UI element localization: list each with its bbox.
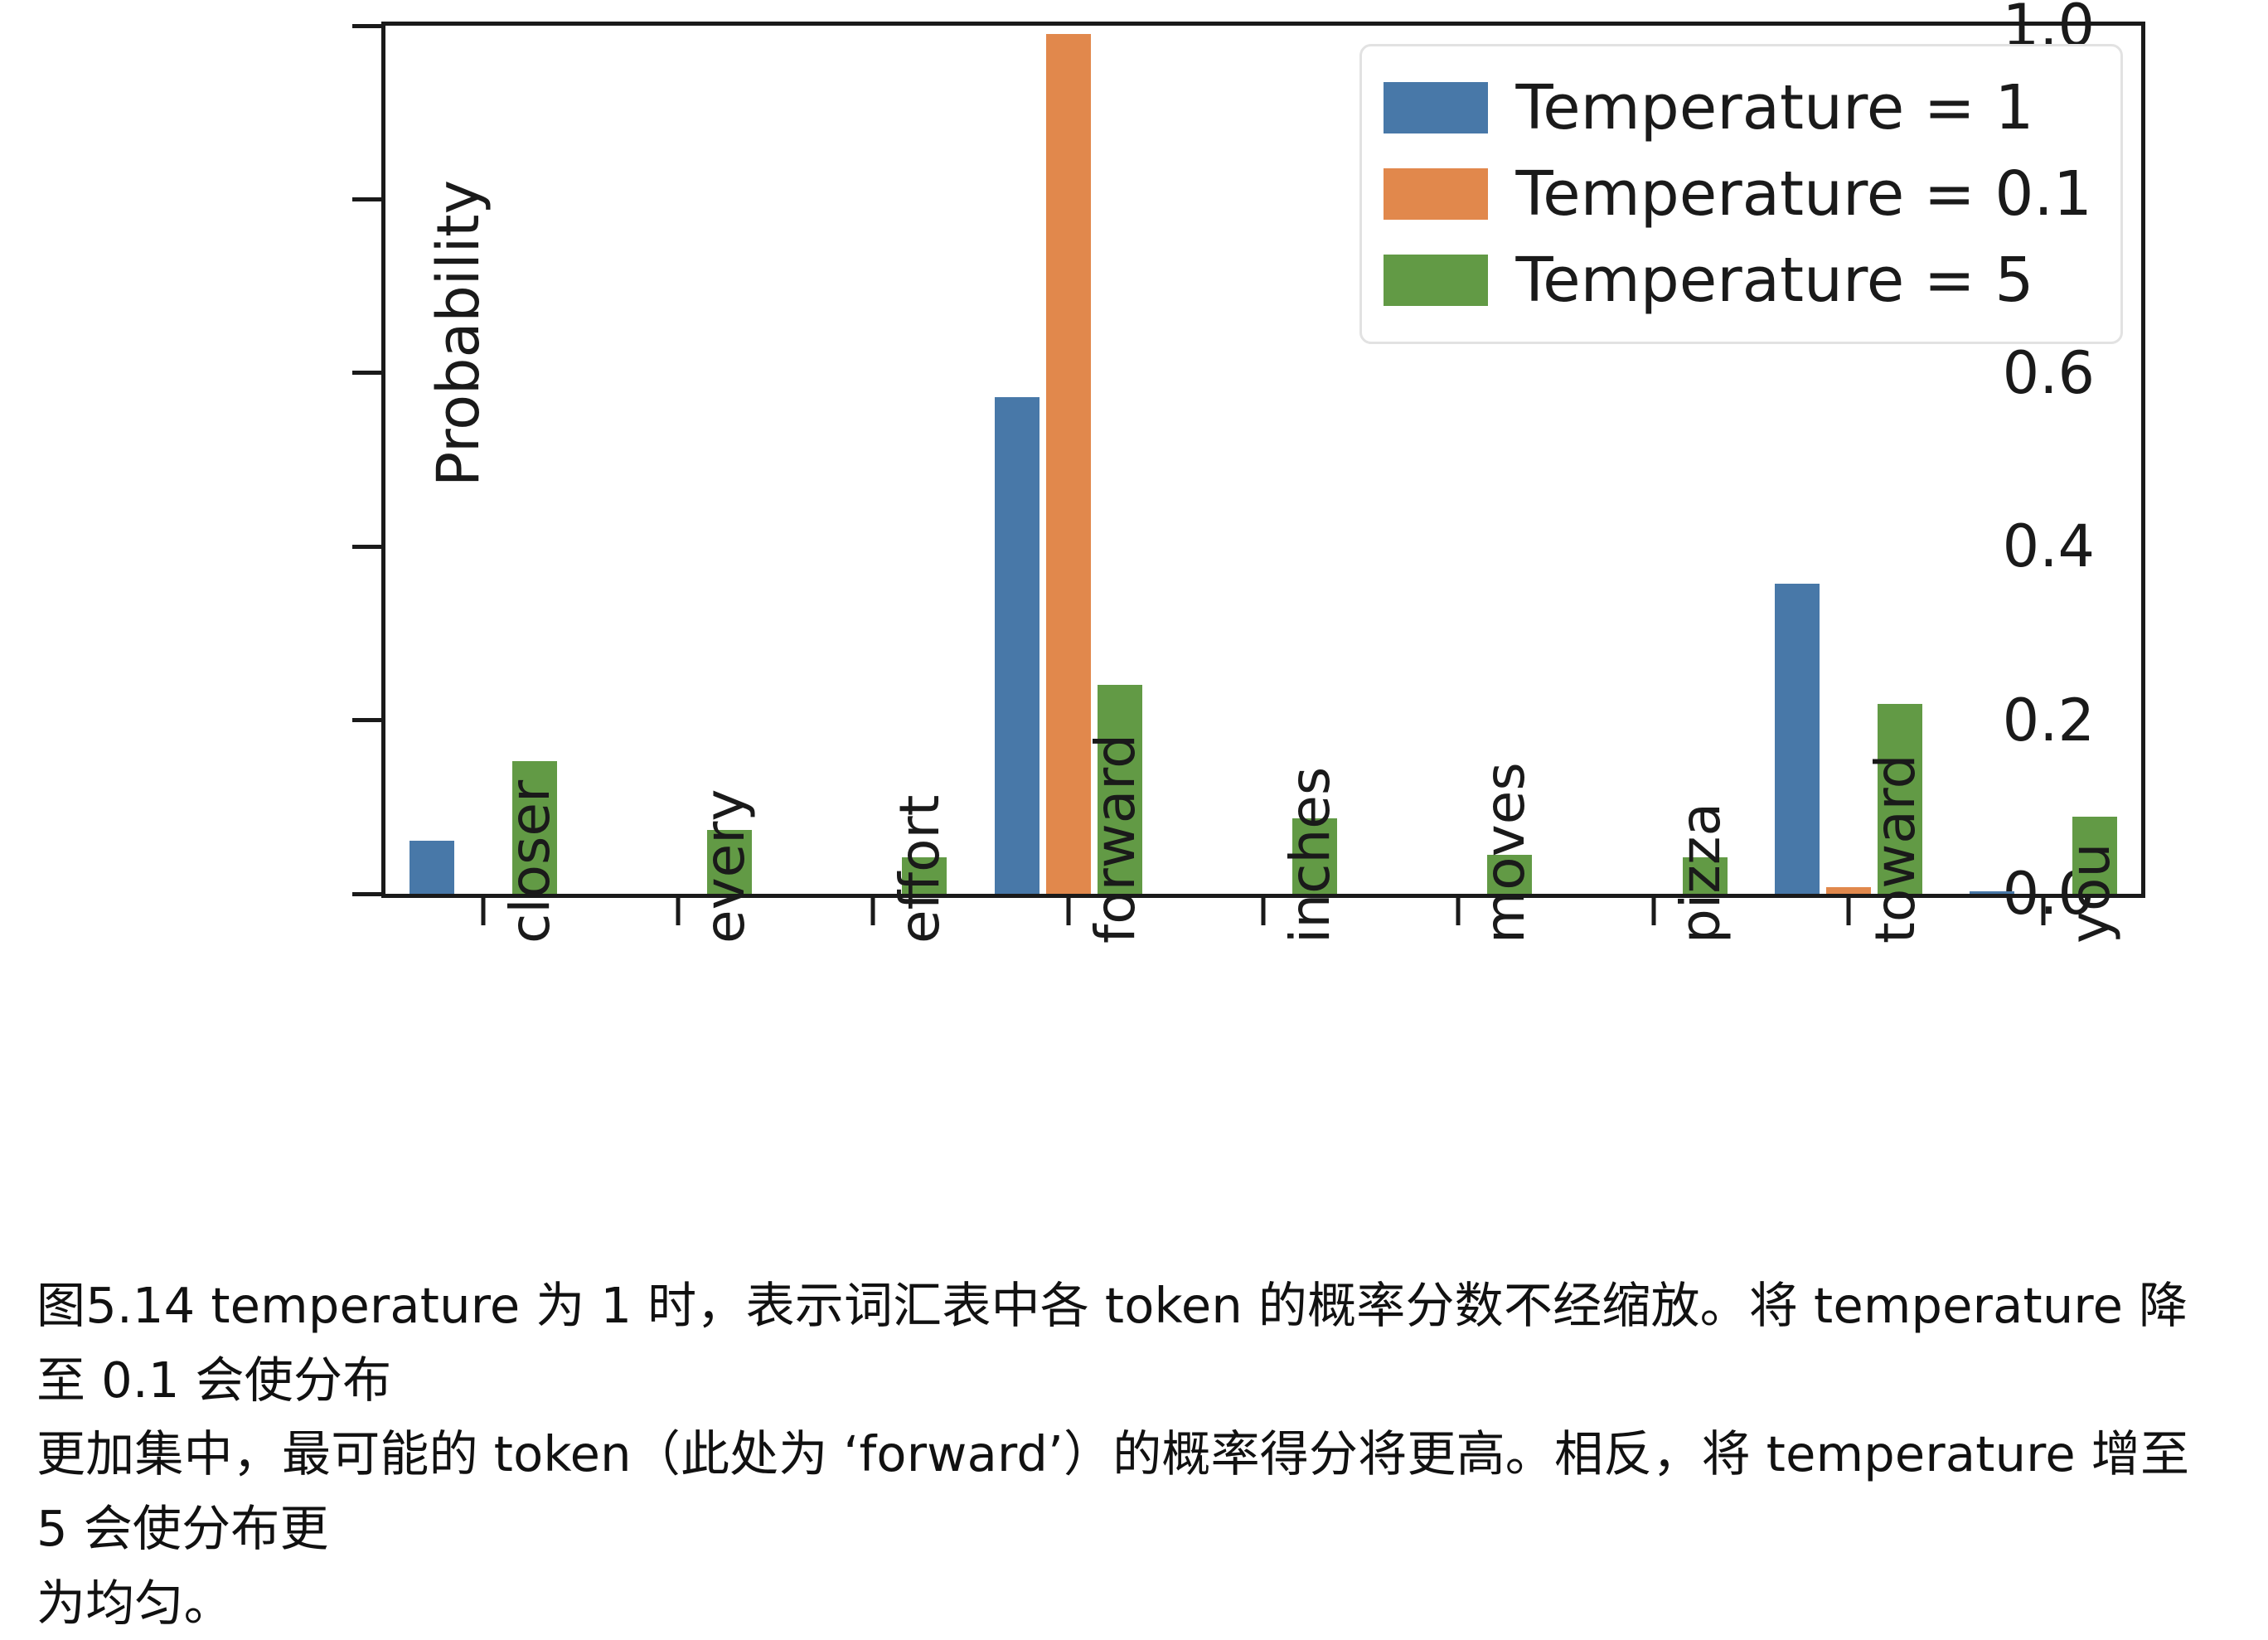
legend-item[interactable]: Temperature = 5 xyxy=(1384,237,2092,323)
bar xyxy=(409,841,454,894)
y-axis-tick-mark xyxy=(352,892,385,896)
x-axis-tick-mark xyxy=(2042,894,2046,925)
legend-color-swatch xyxy=(1384,82,1488,133)
x-axis-tick-mark xyxy=(676,894,681,925)
y-axis-label: Probability xyxy=(424,118,492,549)
x-axis-tick-mark xyxy=(1847,894,1851,925)
caption-line-2: 更加集中，最可能的 token（此处为 ‘forward’）的概率得分将更高。相… xyxy=(36,1417,2235,1565)
x-axis-tick-mark xyxy=(1651,894,1655,925)
x-axis-tick-label: forward xyxy=(1088,734,1143,944)
x-axis-tick-label: effort xyxy=(893,795,947,944)
legend-label: Temperature = 1 xyxy=(1516,77,2034,138)
x-axis-tick-label: you xyxy=(2063,843,2118,944)
caption-line-3: 为均匀。 xyxy=(36,1566,2235,1640)
legend-color-swatch xyxy=(1384,168,1488,220)
legend-label: Temperature = 0.1 xyxy=(1516,163,2092,225)
bar xyxy=(1775,584,1820,894)
x-axis-tick-label: inches xyxy=(1283,767,1338,944)
plot-area: Probability 0.00.20.40.60.81.0 closereve… xyxy=(381,22,2145,898)
figure-caption: 图5.14 temperature 为 1 时，表示词汇表中各 token 的概… xyxy=(0,1269,2268,1640)
y-axis-tick-mark xyxy=(352,718,385,722)
figure: Probability 0.00.20.40.60.81.0 closereve… xyxy=(0,0,2268,1244)
legend-item[interactable]: Temperature = 1 xyxy=(1384,65,2092,151)
y-axis-tick-mark xyxy=(352,197,385,201)
x-axis-tick-mark xyxy=(1066,894,1070,925)
legend-color-swatch xyxy=(1384,255,1488,306)
y-axis-tick-mark xyxy=(352,24,385,28)
x-axis-tick-label: closer xyxy=(503,780,558,944)
y-axis-tick-mark xyxy=(352,371,385,375)
y-axis-tick-label: 0.2 xyxy=(2003,691,2095,750)
y-axis-tick-mark xyxy=(352,545,385,549)
x-axis-tick-label: toward xyxy=(1868,754,1923,944)
legend-item[interactable]: Temperature = 0.1 xyxy=(1384,151,2092,237)
x-axis-tick-mark xyxy=(871,894,875,925)
caption-line-1: 图5.14 temperature 为 1 时，表示词汇表中各 token 的概… xyxy=(36,1269,2235,1417)
bar xyxy=(1970,891,2014,894)
x-axis-tick-label: every xyxy=(698,789,753,944)
legend-label: Temperature = 5 xyxy=(1516,250,2034,311)
x-axis-tick-label: pizza xyxy=(1674,803,1728,944)
x-axis-tick-mark xyxy=(1262,894,1266,925)
chart-legend[interactable]: Temperature = 1Temperature = 0.1Temperat… xyxy=(1359,44,2123,344)
y-axis-tick-label: 0.4 xyxy=(2003,517,2095,575)
x-axis-tick-mark xyxy=(481,894,485,925)
x-axis-tick-label: moves xyxy=(1478,762,1533,944)
x-axis-tick-mark xyxy=(1456,894,1461,925)
y-axis-tick-label: 0.6 xyxy=(2003,344,2095,402)
bar xyxy=(995,397,1039,894)
